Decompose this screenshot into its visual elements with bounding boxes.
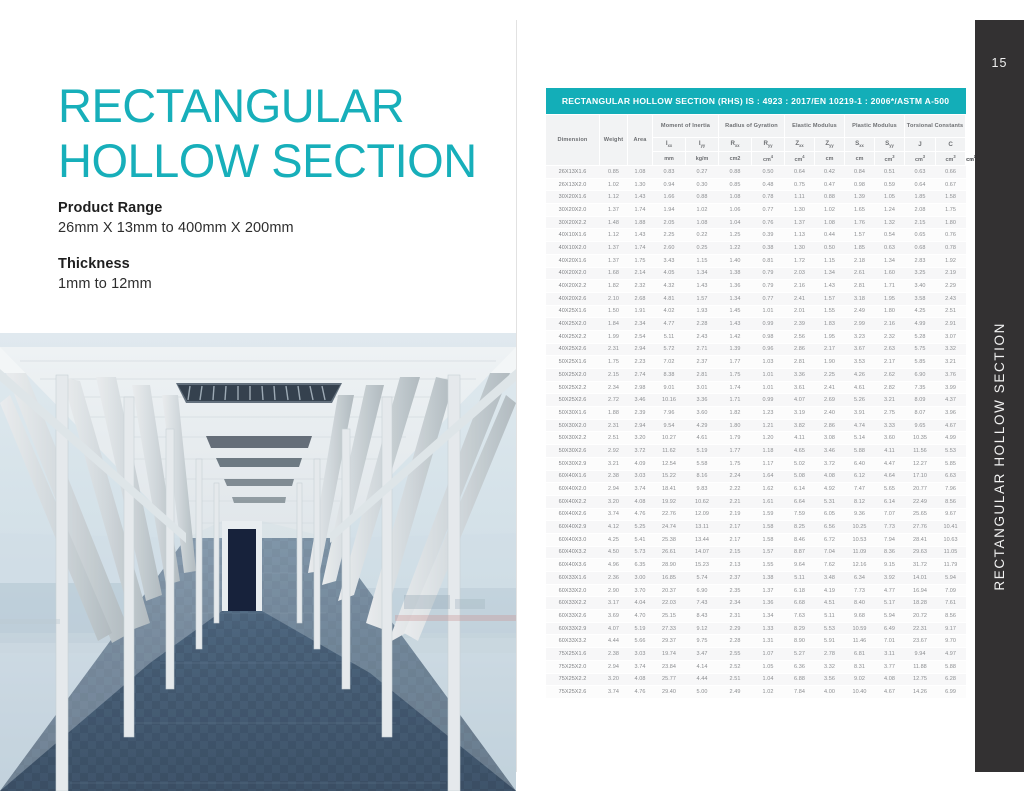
cell-value: 1.99: [600, 330, 628, 343]
table-row: 60X40X2.02.943.7418.419.832.221.626.144.…: [546, 483, 966, 496]
cell-value: 1.57: [845, 229, 875, 242]
cell-value: 3.56: [815, 673, 845, 686]
cell-value: 5.28: [905, 330, 936, 343]
cell-value: 1.95: [875, 292, 905, 305]
cell-value: 7.96: [653, 407, 686, 420]
cell-value: 9.75: [686, 635, 719, 648]
cell-value: 1.92: [936, 254, 966, 267]
cell-value: 18.28: [905, 597, 936, 610]
cell-value: 3.74: [628, 660, 653, 673]
cell-value: 0.96: [752, 343, 785, 356]
cell-value: 29.37: [653, 635, 686, 648]
cell-value: 19.74: [653, 648, 686, 661]
cell-value: 0.99: [752, 318, 785, 331]
cell-value: 1.57: [686, 292, 719, 305]
cell-value: 3.99: [936, 381, 966, 394]
cell-value: 0.76: [936, 229, 966, 242]
cell-value: 2.08: [905, 204, 936, 217]
cell-value: 3.18: [845, 292, 875, 305]
cell-dimension: 75X25X2.6: [546, 686, 600, 699]
cell-value: 2.34: [628, 318, 653, 331]
cell-value: 25.15: [653, 610, 686, 623]
cell-value: 4.67: [875, 686, 905, 699]
cell-value: 2.03: [785, 267, 815, 280]
cell-value: 3.08: [815, 432, 845, 445]
cell-value: 6.40: [845, 457, 875, 470]
cell-value: 0.38: [752, 242, 785, 255]
cell-dimension: 60X40X3.0: [546, 533, 600, 546]
cell-dimension: 75X25X2.2: [546, 673, 600, 686]
col-group-radius-of-gyration: Radius of Gyration: [719, 115, 785, 138]
cell-value: 3.72: [628, 445, 653, 458]
cell-value: 2.81: [845, 280, 875, 293]
cell-value: 5.85: [905, 356, 936, 369]
cell-value: 2.83: [905, 254, 936, 267]
table-row: 50X25X1.61.752.237.022.371.771.032.811.9…: [546, 356, 966, 369]
cell-value: 3.92: [875, 572, 905, 585]
cell-value: 8.07: [905, 407, 936, 420]
cell-value: 1.71: [719, 394, 752, 407]
table-row: 60X40X2.63.744.7622.7612.092.191.597.596…: [546, 508, 966, 521]
cell-dimension: 26X13X1.6: [546, 166, 600, 179]
cell-value: 11.88: [905, 660, 936, 673]
cell-dimension: 40X20X2.0: [546, 267, 600, 280]
cell-value: 3.74: [628, 483, 653, 496]
vertical-section-label: RECTANGULAR HOLLOW SECTION: [975, 20, 1024, 772]
cell-value: 1.21: [752, 419, 785, 432]
cell-value: 2.37: [719, 572, 752, 585]
cell-value: 3.70: [628, 584, 653, 597]
table-row: 30X20X2.01.371.741.941.021.060.771.301.0…: [546, 204, 966, 217]
cell-value: 3.07: [936, 330, 966, 343]
cell-value: 2.38: [600, 470, 628, 483]
cell-value: 1.55: [815, 305, 845, 318]
cell-value: 1.68: [600, 267, 628, 280]
cell-value: 1.08: [686, 216, 719, 229]
cell-value: 2.39: [785, 318, 815, 331]
cell-value: 4.99: [905, 318, 936, 331]
cell-value: 4.08: [628, 495, 653, 508]
cell-value: 2.13: [719, 559, 752, 572]
cell-value: 1.90: [815, 356, 845, 369]
left-column: RECTANGULAR HOLLOW SECTION Product Range…: [0, 0, 516, 791]
cell-value: 0.83: [653, 166, 686, 179]
cell-value: 9.68: [845, 610, 875, 623]
cell-value: 9.12: [686, 622, 719, 635]
cell-dimension: 60X33X2.9: [546, 622, 600, 635]
cell-value: 12.16: [845, 559, 875, 572]
cell-value: 4.04: [628, 597, 653, 610]
cell-value: 8.31: [845, 660, 875, 673]
cell-dimension: 75X25X1.6: [546, 648, 600, 661]
cell-value: 2.92: [600, 445, 628, 458]
table-row: 50X30X2.02.312.949.544.291.801.213.822.8…: [546, 419, 966, 432]
cell-dimension: 60X40X2.2: [546, 495, 600, 508]
cell-value: 24.74: [653, 521, 686, 534]
cell-value: 10.53: [845, 533, 875, 546]
cell-value: 2.22: [719, 483, 752, 496]
cell-value: 1.01: [752, 305, 785, 318]
cell-value: 1.62: [752, 483, 785, 496]
table-row: 40X20X1.61.371.753.431.151.400.811.721.1…: [546, 254, 966, 267]
cell-value: 3.67: [845, 343, 875, 356]
cell-value: 8.90: [785, 635, 815, 648]
cell-value: 7.07: [875, 508, 905, 521]
cell-value: 4.09: [628, 457, 653, 470]
cell-value: 1.34: [875, 254, 905, 267]
cell-value: 2.05: [653, 216, 686, 229]
cell-value: 5.11: [815, 610, 845, 623]
cell-value: 1.79: [719, 432, 752, 445]
cell-value: 2.75: [875, 407, 905, 420]
table-row: 60X40X1.62.383.0315.228.162.241.645.084.…: [546, 470, 966, 483]
unit-iyy: cm4: [785, 152, 815, 166]
cell-value: 2.74: [628, 369, 653, 382]
cell-value: 14.01: [905, 572, 936, 585]
cell-value: 2.82: [875, 381, 905, 394]
cell-value: 6.81: [845, 648, 875, 661]
table-row: 50X30X2.22.513.2010.274.611.791.204.113.…: [546, 432, 966, 445]
cell-dimension: 60X33X3.2: [546, 635, 600, 648]
cell-value: 3.53: [845, 356, 875, 369]
cell-value: 3.23: [845, 330, 875, 343]
cell-value: 4.14: [686, 660, 719, 673]
cell-value: 3.47: [686, 648, 719, 661]
cell-value: 1.55: [752, 559, 785, 572]
cell-value: 1.58: [752, 533, 785, 546]
cell-value: 0.25: [686, 242, 719, 255]
cell-value: 9.01: [653, 381, 686, 394]
cell-value: 1.88: [600, 407, 628, 420]
cell-value: 3.46: [628, 394, 653, 407]
cell-value: 0.22: [686, 229, 719, 242]
cell-value: 1.82: [600, 280, 628, 293]
cell-dimension: 60X40X2.0: [546, 483, 600, 496]
cell-value: 1.36: [719, 280, 752, 293]
cell-value: 28.90: [653, 559, 686, 572]
cell-value: 1.74: [628, 204, 653, 217]
cell-value: 2.32: [628, 280, 653, 293]
cell-value: 2.17: [719, 533, 752, 546]
cell-value: 6.63: [936, 470, 966, 483]
cell-value: 0.66: [936, 166, 966, 179]
cell-value: 2.41: [785, 292, 815, 305]
cell-value: 4.96: [600, 559, 628, 572]
cell-dimension: 30X20X1.6: [546, 191, 600, 204]
vertical-section-label-text: RECTANGULAR HOLLOW SECTION: [992, 322, 1007, 591]
cell-value: 16.94: [905, 584, 936, 597]
cell-value: 0.42: [815, 166, 845, 179]
cell-value: 1.48: [600, 216, 628, 229]
cell-value: 4.08: [875, 673, 905, 686]
cell-value: 4.44: [600, 635, 628, 648]
cell-value: 1.39: [845, 191, 875, 204]
cell-value: 0.47: [815, 178, 845, 191]
cell-value: 1.37: [600, 204, 628, 217]
cell-value: 1.95: [815, 330, 845, 343]
cell-value: 5.75: [905, 343, 936, 356]
cell-value: 0.27: [686, 166, 719, 179]
cell-value: 1.40: [719, 254, 752, 267]
cell-value: 2.78: [815, 648, 845, 661]
cell-value: 2.31: [600, 343, 628, 356]
cell-value: 0.99: [752, 394, 785, 407]
cell-value: 1.01: [752, 369, 785, 382]
cell-value: 2.81: [686, 369, 719, 382]
cell-dimension: 40X25X1.6: [546, 305, 600, 318]
cell-value: 5.00: [686, 686, 719, 699]
cell-value: 5.53: [815, 622, 845, 635]
cell-value: 6.34: [845, 572, 875, 585]
sym-c: C: [936, 138, 966, 152]
cell-value: 18.41: [653, 483, 686, 496]
cell-value: 0.88: [686, 191, 719, 204]
cell-value: 0.51: [875, 166, 905, 179]
cell-value: 5.66: [628, 635, 653, 648]
cell-value: 5.11: [653, 330, 686, 343]
cell-value: 0.85: [600, 166, 628, 179]
cell-value: 0.76: [752, 216, 785, 229]
cell-value: 1.34: [752, 610, 785, 623]
cell-value: 1.43: [815, 280, 845, 293]
cell-value: 5.73: [628, 546, 653, 559]
cell-value: 2.34: [600, 381, 628, 394]
cell-value: 13.44: [686, 533, 719, 546]
cell-value: 2.81: [785, 356, 815, 369]
cell-value: 9.83: [686, 483, 719, 496]
cell-dimension: 40X20X2.2: [546, 280, 600, 293]
cell-value: 6.18: [785, 584, 815, 597]
cell-value: 1.43: [628, 229, 653, 242]
cell-value: 3.72: [815, 457, 845, 470]
cell-value: 6.90: [686, 584, 719, 597]
cell-value: 2.49: [845, 305, 875, 318]
table-row: 75X25X2.63.744.7629.405.002.491.027.844.…: [546, 686, 966, 699]
cell-value: 6.14: [785, 483, 815, 496]
cell-value: 9.36: [845, 508, 875, 521]
cell-value: 9.67: [936, 508, 966, 521]
col-group-elastic-modulus: Elastic Modulus: [785, 115, 845, 138]
cell-dimension: 50X30X2.2: [546, 432, 600, 445]
cell-value: 2.94: [628, 343, 653, 356]
cell-value: 2.94: [628, 419, 653, 432]
cell-value: 2.98: [628, 381, 653, 394]
cell-value: 0.63: [875, 242, 905, 255]
sym-ixx: Ixx: [653, 138, 686, 152]
cell-value: 2.15: [905, 216, 936, 229]
cell-value: 4.81: [653, 292, 686, 305]
table-row: 50X30X2.62.923.7211.625.191.771.184.653.…: [546, 445, 966, 458]
cell-value: 1.75: [719, 369, 752, 382]
cell-dimension: 60X33X2.2: [546, 597, 600, 610]
title-block: RECTANGULAR HOLLOW SECTION: [58, 78, 498, 189]
cell-value: 2.15: [719, 546, 752, 559]
table-body: 26X13X1.60.851.080.830.270.880.500.640.4…: [546, 166, 966, 699]
cell-value: 1.37: [752, 584, 785, 597]
cell-value: 1.04: [752, 673, 785, 686]
cell-value: 31.72: [905, 559, 936, 572]
cell-value: 5.74: [686, 572, 719, 585]
jet-bridge-photo: [0, 333, 516, 791]
cell-dimension: 60X40X2.6: [546, 508, 600, 521]
cell-value: 29.40: [653, 686, 686, 699]
cell-value: 1.77: [719, 356, 752, 369]
cell-value: 10.40: [845, 686, 875, 699]
cell-value: 7.73: [845, 584, 875, 597]
cell-value: 3.58: [905, 292, 936, 305]
cell-value: 6.88: [785, 673, 815, 686]
cell-value: 2.31: [600, 419, 628, 432]
cell-value: 1.38: [752, 572, 785, 585]
col-group-area: Area: [628, 115, 653, 166]
cell-value: 1.43: [719, 318, 752, 331]
specification-block: Product Range 26mm X 13mm to 400mm X 200…: [58, 200, 488, 312]
cell-value: 7.09: [936, 584, 966, 597]
unit-sxx: cm3: [936, 152, 966, 166]
cell-value: 1.36: [752, 597, 785, 610]
cell-value: 10.25: [845, 521, 875, 534]
cell-value: 3.43: [653, 254, 686, 267]
cell-value: 2.29: [936, 280, 966, 293]
cell-value: 0.79: [752, 280, 785, 293]
cell-value: 5.19: [628, 622, 653, 635]
cell-value: 4.74: [845, 419, 875, 432]
cell-value: 1.25: [719, 229, 752, 242]
cell-value: 1.80: [875, 305, 905, 318]
cell-value: 22.49: [905, 495, 936, 508]
cell-value: 1.01: [752, 381, 785, 394]
cell-value: 10.63: [936, 533, 966, 546]
table-title-row: RECTANGULAR HOLLOW SECTION (RHS) IS : 49…: [546, 88, 966, 115]
cell-value: 3.25: [905, 267, 936, 280]
cell-value: 1.37: [600, 254, 628, 267]
cell-value: 0.81: [752, 254, 785, 267]
thickness-label: Thickness: [58, 256, 488, 272]
sym-rxx: Rxx: [719, 138, 752, 152]
cell-value: 1.30: [628, 178, 653, 191]
unit-ryy: cm: [845, 152, 875, 166]
cell-value: 2.61: [845, 267, 875, 280]
cell-value: 4.44: [686, 673, 719, 686]
cell-value: 1.66: [653, 191, 686, 204]
cell-value: 0.75: [785, 178, 815, 191]
table-row: 40X20X2.01.682.144.051.341.380.792.031.3…: [546, 267, 966, 280]
cell-value: 3.91: [845, 407, 875, 420]
product-range-value: 26mm X 13mm to 400mm X 200mm: [58, 220, 488, 236]
cell-value: 0.64: [905, 178, 936, 191]
cell-value: 2.51: [719, 673, 752, 686]
cell-value: 6.90: [905, 369, 936, 382]
cell-dimension: 40X10X1.6: [546, 229, 600, 242]
cell-value: 1.74: [719, 381, 752, 394]
cell-value: 1.37: [600, 242, 628, 255]
cell-value: 4.77: [875, 584, 905, 597]
cell-value: 7.02: [653, 356, 686, 369]
cell-value: 5.27: [785, 648, 815, 661]
cell-value: 5.14: [845, 432, 875, 445]
table-row: 40X25X2.62.312.945.722.711.390.962.862.1…: [546, 343, 966, 356]
cell-value: 3.69: [600, 610, 628, 623]
cell-value: 1.17: [752, 457, 785, 470]
cell-value: 11.05: [936, 546, 966, 559]
cell-value: 5.58: [686, 457, 719, 470]
cell-value: 6.35: [628, 559, 653, 572]
cell-value: 9.02: [845, 673, 875, 686]
cell-value: 2.17: [719, 521, 752, 534]
cell-value: 5.91: [815, 635, 845, 648]
table-row: 26X13X1.60.851.080.830.270.880.500.640.4…: [546, 166, 966, 179]
rhs-specification-table: RECTANGULAR HOLLOW SECTION (RHS) IS : 49…: [545, 88, 966, 699]
table-row: 50X30X1.61.882.397.963.601.821.233.192.4…: [546, 407, 966, 420]
cell-value: 4.77: [653, 318, 686, 331]
cell-value: 7.47: [845, 483, 875, 496]
cell-value: 4.02: [653, 305, 686, 318]
cell-value: 1.37: [785, 216, 815, 229]
cell-value: 6.49: [875, 622, 905, 635]
cell-value: 0.79: [752, 267, 785, 280]
table-row: 26X13X2.01.021.300.940.300.850.480.750.4…: [546, 178, 966, 191]
cell-value: 1.12: [600, 229, 628, 242]
cell-value: 22.31: [905, 622, 936, 635]
sym-zxx: Zxx: [785, 138, 815, 152]
cell-value: 3.20: [600, 495, 628, 508]
cell-dimension: 50X30X2.0: [546, 419, 600, 432]
cell-dimension: 50X25X1.6: [546, 356, 600, 369]
rhs-table-container: RECTANGULAR HOLLOW SECTION (RHS) IS : 49…: [545, 88, 965, 699]
cell-value: 14.26: [905, 686, 936, 699]
cell-value: 4.12: [600, 521, 628, 534]
cell-value: 4.08: [628, 673, 653, 686]
cell-value: 2.34: [719, 597, 752, 610]
cell-value: 16.85: [653, 572, 686, 585]
cell-value: 2.71: [686, 343, 719, 356]
cell-value: 2.29: [719, 622, 752, 635]
cell-dimension: 60X33X1.6: [546, 572, 600, 585]
cell-value: 2.01: [785, 305, 815, 318]
cell-value: 1.83: [815, 318, 845, 331]
table-row: 40X25X2.21.992.545.112.431.420.982.561.9…: [546, 330, 966, 343]
cell-value: 5.31: [815, 495, 845, 508]
col-group-weight: Weight: [600, 115, 628, 166]
cell-value: 2.51: [936, 305, 966, 318]
cell-value: 7.61: [936, 597, 966, 610]
cell-value: 2.28: [686, 318, 719, 331]
sym-zyy: Zyy: [815, 138, 845, 152]
cell-value: 1.43: [628, 191, 653, 204]
cell-value: 0.50: [815, 242, 845, 255]
cell-value: 8.46: [785, 533, 815, 546]
cell-value: 1.60: [875, 267, 905, 280]
cell-value: 0.39: [752, 229, 785, 242]
cell-value: 1.74: [628, 242, 653, 255]
cell-value: 9.64: [785, 559, 815, 572]
table-row: 60X40X2.94.125.2524.7413.112.171.588.256…: [546, 521, 966, 534]
unit-zyy: cm3: [905, 152, 936, 166]
cell-value: 7.01: [875, 635, 905, 648]
cell-value: 1.15: [815, 254, 845, 267]
cell-value: 1.64: [752, 470, 785, 483]
cell-value: 4.05: [653, 267, 686, 280]
cell-value: 5.53: [936, 445, 966, 458]
cell-value: 3.61: [785, 381, 815, 394]
cell-value: 2.37: [686, 356, 719, 369]
cell-value: 3.76: [936, 369, 966, 382]
cell-value: 1.24: [875, 204, 905, 217]
cell-value: 12.75: [905, 673, 936, 686]
cell-value: 1.80: [936, 216, 966, 229]
cell-value: 11.62: [653, 445, 686, 458]
cell-value: 0.88: [719, 166, 752, 179]
